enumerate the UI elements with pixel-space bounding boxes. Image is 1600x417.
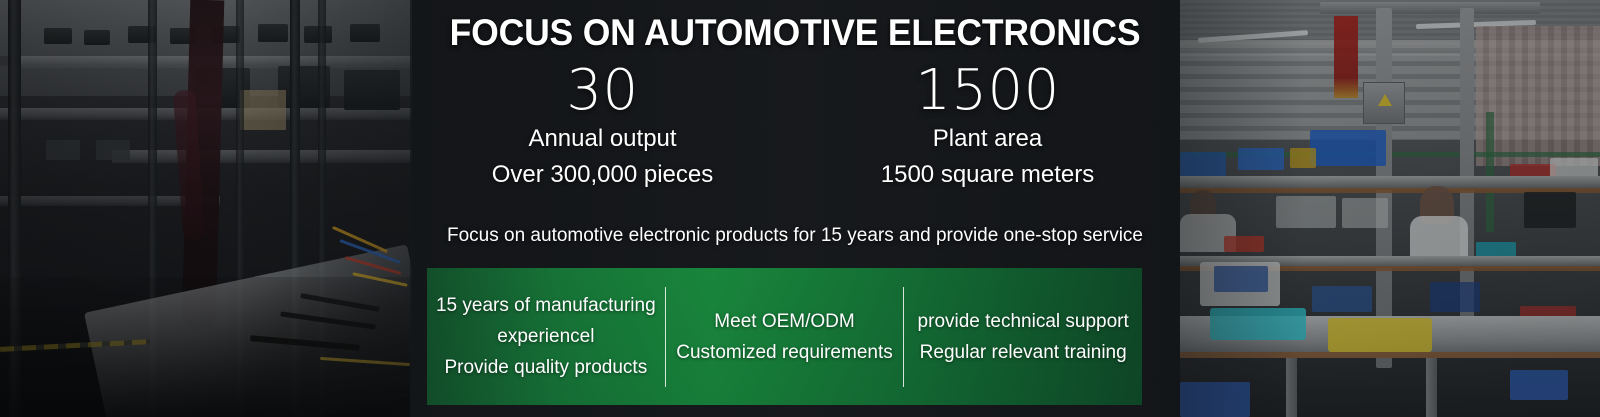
stat-annual-output: 30 Annual output Over 300,000 pieces bbox=[410, 62, 795, 192]
stat-label: Plant area bbox=[795, 122, 1180, 156]
banner-content: FOCUS ON AUTOMOTIVE ELECTRONICS 30 Annua… bbox=[410, 0, 1180, 417]
company-strength-banner: FOCUS ON AUTOMOTIVE ELECTRONICS 30 Annua… bbox=[0, 0, 1600, 417]
page-title: FOCUS ON AUTOMOTIVE ELECTRONICS bbox=[425, 12, 1164, 54]
feature-line: Customized requirements bbox=[670, 337, 900, 368]
feature-column-manufacturing: 15 years of manufacturing experiencel Pr… bbox=[427, 290, 665, 383]
stat-number: 1500 bbox=[795, 62, 1180, 120]
left-photo-shade bbox=[0, 0, 412, 417]
stat-number: 30 bbox=[410, 62, 795, 120]
feature-column-oem-odm: Meet OEM/ODM Customized requirements bbox=[666, 306, 904, 368]
stat-plant-area: 1500 Plant area 1500 square meters bbox=[795, 62, 1180, 192]
stats-row: 30 Annual output Over 300,000 pieces 150… bbox=[410, 62, 1180, 192]
stat-sublabel: Over 300,000 pieces bbox=[410, 158, 795, 192]
feature-line: Meet OEM/ODM bbox=[670, 306, 900, 337]
feature-column-support: provide technical support Regular releva… bbox=[904, 306, 1142, 368]
tagline: Focus on automotive electronic products … bbox=[410, 222, 1180, 250]
feature-line: provide technical support bbox=[908, 306, 1138, 337]
feature-line: 15 years of manufacturing bbox=[431, 290, 661, 321]
stat-label: Annual output bbox=[410, 122, 795, 156]
feature-line: experiencel bbox=[431, 321, 661, 352]
right-photo-shade bbox=[1180, 0, 1600, 417]
feature-line: Provide quality products bbox=[431, 352, 661, 383]
features-panel: 15 years of manufacturing experiencel Pr… bbox=[427, 268, 1142, 405]
stat-sublabel: 1500 square meters bbox=[795, 158, 1180, 192]
feature-line: Regular relevant training bbox=[908, 337, 1138, 368]
